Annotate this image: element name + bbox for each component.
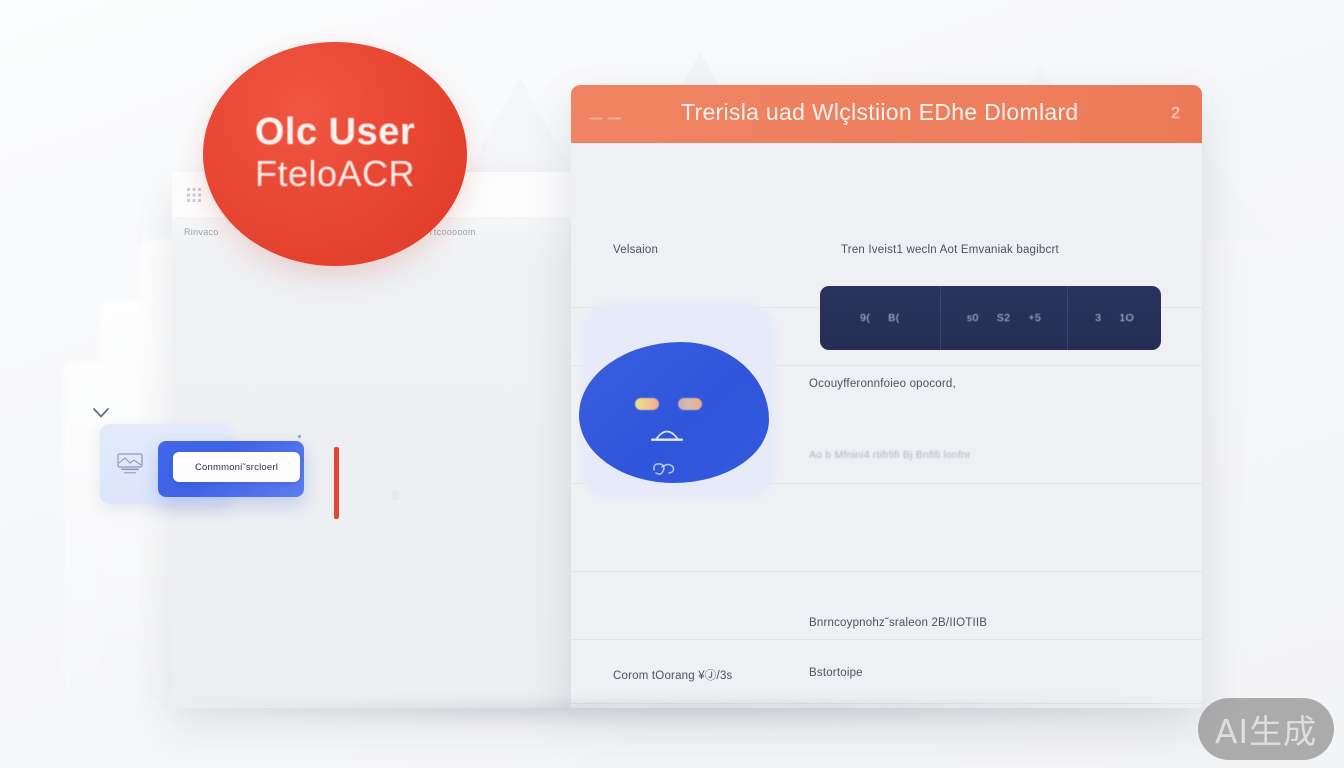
segment-3[interactable]: 3 1O [1067,286,1161,350]
grid-icon[interactable] [186,187,202,203]
row-label-bottom: Corom tOorang ¥Ⓙ/3s [613,667,733,683]
right-panel-title: Trerisla uad Wlçlstiion EDhe Dlomlard [681,99,1079,126]
window-ground-shadow [150,702,1240,726]
segment-2-value-3: +5 [1028,312,1041,324]
pill-eye-left [635,398,659,410]
segment-3-value-2: 1O [1119,312,1134,324]
tooltip-dot-indicator [298,435,301,438]
comment-tooltip-inner[interactable]: Conmmoni˜srcloerl [173,452,300,482]
segment-2-value-2: S2 [997,312,1011,324]
segment-2-value-1: s0 [967,312,979,324]
ai-watermark-label: AI生成 [1215,705,1317,753]
swirl-icon [649,458,677,480]
row-heading-main: Tren Iveist1 wecln Aot Emvaniak bagibcrt [841,244,1059,256]
row-divider [571,639,1202,640]
badge-line-2: FteloACR [255,151,415,196]
row-value-bottom: Bstortoipe [809,667,863,679]
red-circular-badge: Olc User FteloACR [203,42,467,266]
image-thumbnail-icon [117,452,143,476]
badge-line-1: Olc User [255,113,415,151]
row-text-2: Ocouyfferonnfoieo opocord, [809,378,956,390]
segmented-control[interactable]: 9( B( s0 S2 +5 3 1O [820,286,1161,350]
scene-root: Rinvaco Ttcooooom Conmmoni˜srcloerl Olc … [0,0,1344,768]
comment-tooltip-text: Conmmoni˜srcloerl [195,462,278,473]
chevron-down-icon[interactable] [92,406,110,420]
segment-1[interactable]: 9( B( [820,286,940,350]
hamburger-dashes-icon[interactable]: — — [589,110,622,125]
header-count-badge: 2 [1171,105,1180,123]
segment-3-value-1: 3 [1095,312,1101,324]
right-panel-header: — — Trerisla uad Wlçlstiion EDhe Dlomlar… [571,85,1202,143]
left-panel-label-1: Rinvaco [184,227,219,237]
arc-mouth-icon [647,424,687,444]
row-label-version: Velsaion [613,244,658,256]
left-panel-label-2: Ttcooooom [428,227,476,237]
row-text-4: Bnrncoypnohz˜sraleon 2B/IIOTIIB [809,617,987,629]
pill-eye-right [678,398,702,410]
segment-1-value-2: B( [888,312,899,324]
segment-1-value-1: 9( [860,312,870,324]
right-panel-body: Velsaion Tren Iveist1 wecln Aot Emvaniak… [571,143,1202,708]
right-window-panel: — — Trerisla uad Wlçlstiion EDhe Dlomlar… [571,85,1202,708]
blue-blob-avatar [579,342,769,483]
placeholder-block [392,490,399,500]
row-text-3: Ao b Mfnini4 rtifrlifi Bj Bnfifi lonfnr [809,449,971,461]
segment-2[interactable]: s0 S2 +5 [940,286,1068,350]
row-divider [571,571,1202,572]
ai-generated-watermark: AI生成 [1198,698,1334,760]
red-accent-bar [334,447,339,519]
